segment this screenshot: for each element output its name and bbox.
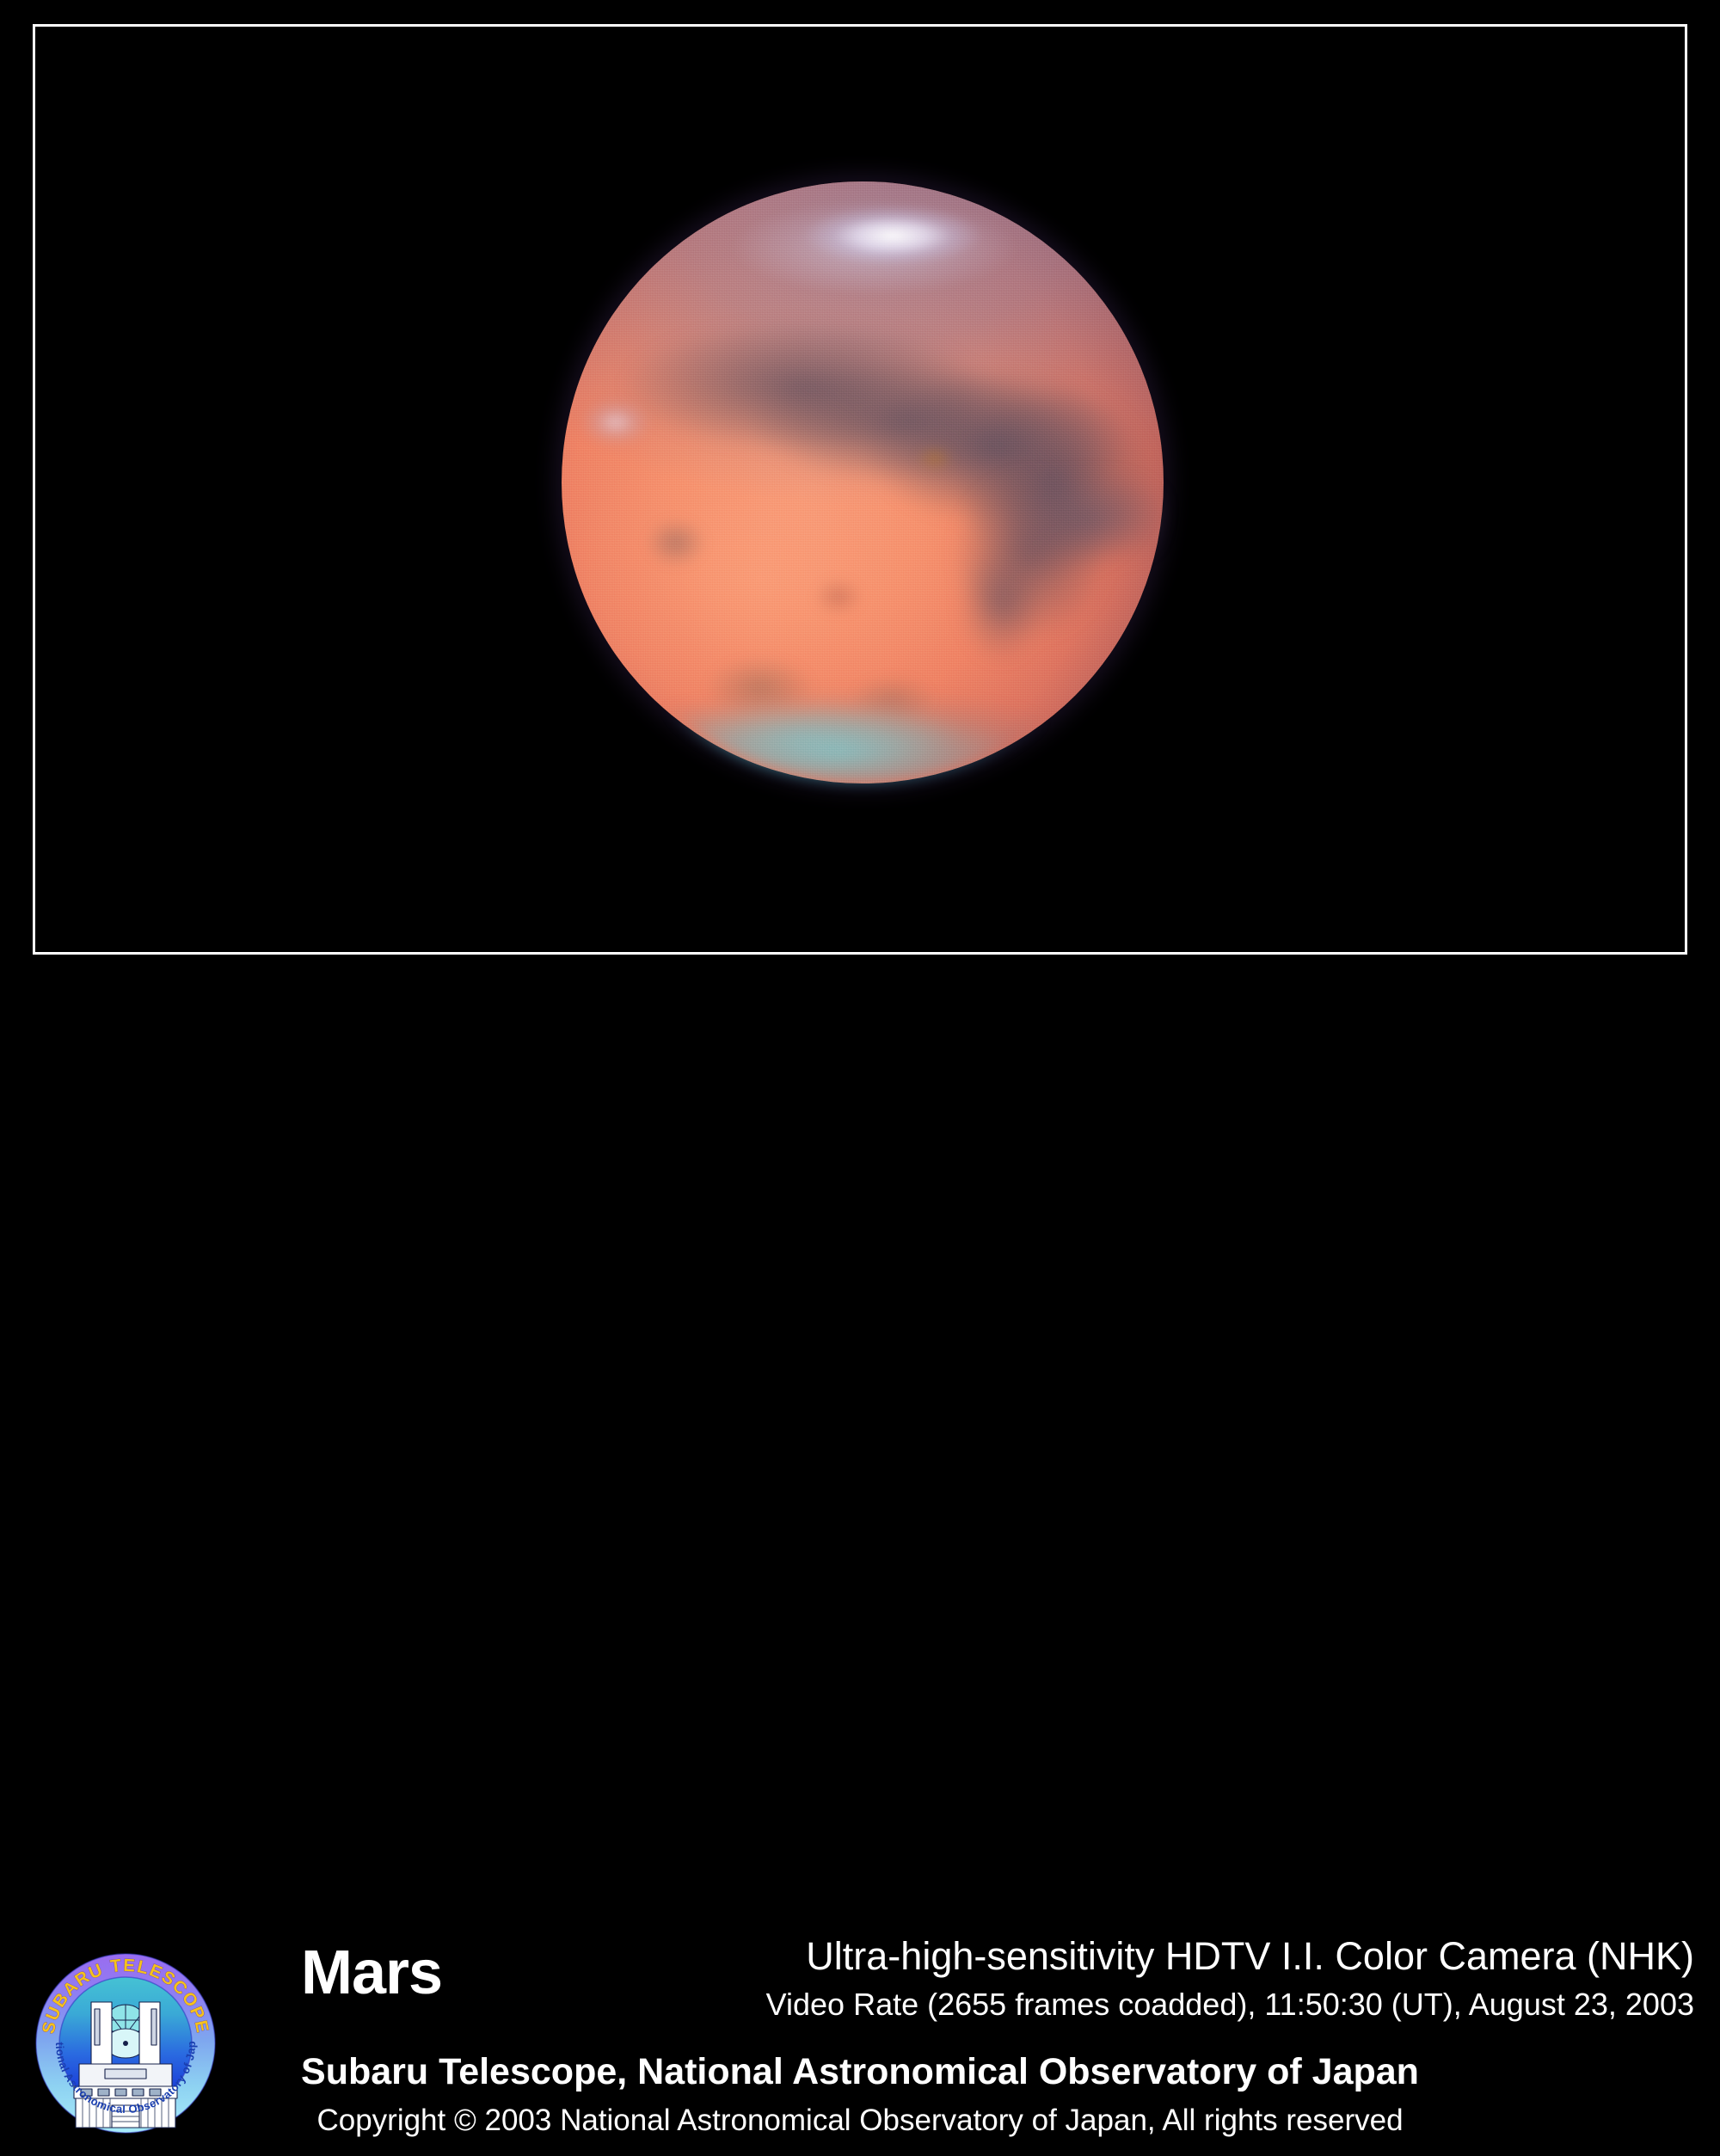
mars-disk bbox=[562, 181, 1164, 783]
caption-block: SUBARU TELESCOPE National Astronomical O… bbox=[0, 955, 1720, 1204]
organization-caption: Subaru Telescope, National Astronomical … bbox=[0, 2054, 1720, 2091]
instrument-caption: Ultra-high-sensitivity HDTV I.I. Color C… bbox=[806, 1937, 1694, 1975]
mars-photograph bbox=[35, 27, 1685, 952]
page-root: SUBARU TELESCOPE National Astronomical O… bbox=[0, 0, 1720, 1204]
observation-caption: Video Rate (2655 frames coadded), 11:50:… bbox=[766, 1989, 1694, 2020]
mars-limb-vignette bbox=[562, 181, 1164, 783]
page-title: Mars bbox=[301, 1942, 442, 2004]
copyright-caption: Copyright © 2003 National Astronomical O… bbox=[0, 2105, 1720, 2135]
image-frame bbox=[33, 24, 1687, 955]
